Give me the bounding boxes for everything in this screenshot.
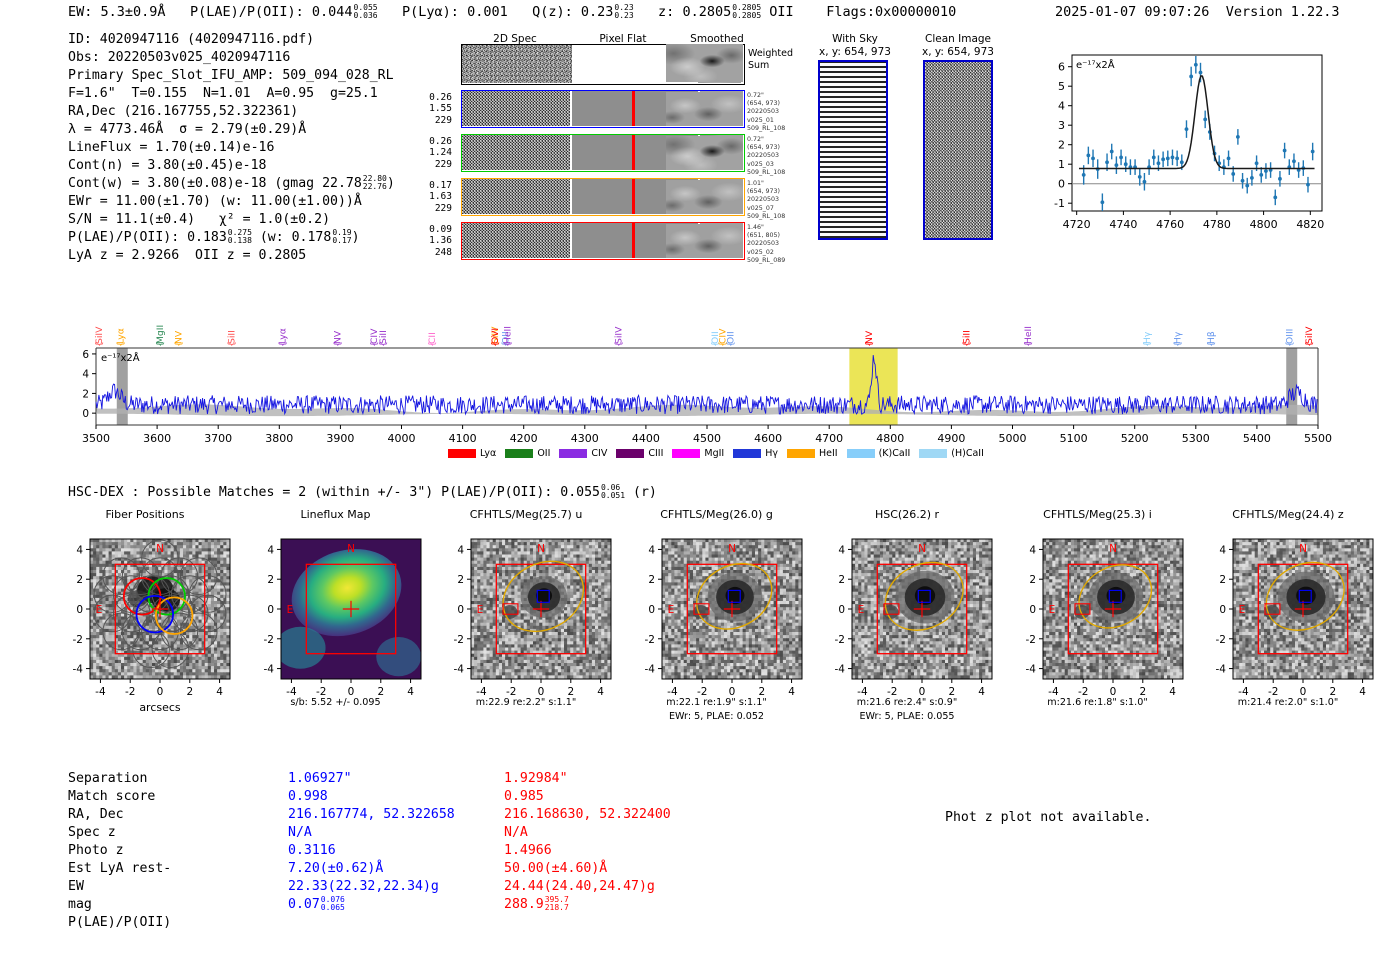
svg-text:0: 0 bbox=[82, 408, 89, 420]
z-value: 0.2805 bbox=[682, 4, 731, 20]
svg-text:{: { bbox=[615, 341, 625, 347]
compass-north: N bbox=[347, 543, 355, 555]
fiber-1-2dspec bbox=[462, 135, 570, 170]
svg-text:5300: 5300 bbox=[1182, 432, 1210, 445]
match-table-column-1: 1.06927"0.998216.167774, 52.322658N/A0.3… bbox=[288, 770, 455, 914]
match-label-1: Match score bbox=[68, 788, 171, 806]
match-label-6: mag bbox=[68, 896, 171, 914]
svg-text:{: { bbox=[1285, 341, 1295, 347]
plae-detail-line: P(LAE)/P(OII): 0.1830.2750.138 (w: 0.178… bbox=[68, 229, 395, 247]
fiber-row-nums-1: 0.261.24229 bbox=[422, 136, 452, 170]
legend-swatch bbox=[787, 449, 815, 458]
compass-east: E bbox=[1239, 604, 1246, 616]
svg-text:4700: 4700 bbox=[815, 432, 843, 445]
plae-detail-wrange: 0.190.17 bbox=[332, 229, 351, 245]
svg-text:{: { bbox=[228, 341, 238, 347]
svg-text:5000: 5000 bbox=[999, 432, 1027, 445]
svg-text:6: 6 bbox=[82, 349, 89, 361]
cutout-title-6: CFHTLS/Meg(24.4) z bbox=[1203, 508, 1373, 521]
cutout-caption2-4: EWr: 5, PLAE: 0.055 bbox=[812, 711, 1002, 723]
svg-text:{: { bbox=[726, 341, 736, 347]
full-spectrum-plot: 0246350036003700380039004000410042004300… bbox=[60, 280, 1345, 455]
legend-item-HCaII: (H)CaII bbox=[919, 448, 984, 459]
match-value-c1-3: N/A bbox=[288, 824, 455, 842]
svg-text:2: 2 bbox=[1058, 139, 1065, 152]
legend-item-KCaII: (K)CaII bbox=[847, 448, 911, 459]
match-value-c2-4: 1.4966 bbox=[504, 842, 671, 860]
plae-label: P(LAE)/P(OII): bbox=[190, 4, 304, 20]
svg-text:5: 5 bbox=[1058, 80, 1065, 93]
svg-text:4800: 4800 bbox=[876, 432, 904, 445]
legend-label: MgII bbox=[704, 448, 724, 459]
svg-text:{: { bbox=[963, 341, 973, 347]
match-table-labels: SeparationMatch scoreRA, DecSpec zPhoto … bbox=[68, 770, 171, 932]
svg-text:6: 6 bbox=[1058, 61, 1065, 74]
fiber-2-2dspec bbox=[462, 179, 570, 214]
legend-label: CIV bbox=[591, 448, 607, 459]
obs-line: Obs: 20220503v025_4020947116 bbox=[68, 49, 395, 67]
svg-text:{: { bbox=[95, 341, 105, 347]
svg-text:4720: 4720 bbox=[1063, 218, 1091, 231]
svg-text:2: 2 bbox=[457, 574, 464, 586]
pixelflat-center-line-1 bbox=[632, 135, 635, 170]
svg-text:4300: 4300 bbox=[571, 432, 599, 445]
ewr-line: EWr = 11.00(±1.70) (w: 11.00(±1.00))Å bbox=[68, 193, 395, 211]
svg-text:4: 4 bbox=[216, 686, 223, 698]
svg-text:e⁻¹⁷x2Å: e⁻¹⁷x2Å bbox=[101, 351, 140, 364]
match-value-c1-7: 0.070.0760.065 bbox=[288, 896, 455, 914]
legend-label: OII bbox=[537, 448, 550, 459]
legend-swatch bbox=[672, 449, 700, 458]
compass-east: E bbox=[96, 604, 103, 616]
cutout-title-1: Lineflux Map bbox=[251, 508, 421, 521]
qz-label: Q(z): bbox=[532, 4, 573, 20]
svg-text:4600: 4600 bbox=[754, 432, 782, 445]
gmag-range: 22.8022.76 bbox=[363, 175, 387, 191]
plya-value: 0.001 bbox=[467, 4, 508, 20]
legend-label: Hγ bbox=[765, 448, 778, 459]
legend-item-HeII: HeII bbox=[787, 448, 838, 459]
svg-text:2: 2 bbox=[267, 574, 274, 586]
svg-text:{: { bbox=[1143, 341, 1153, 347]
match-value-c2-7: 288.9395.7218.7 bbox=[504, 896, 671, 914]
svg-text:{: { bbox=[865, 341, 875, 347]
plae-value: 0.044 bbox=[312, 4, 353, 20]
svg-text:-2: -2 bbox=[263, 634, 273, 646]
svg-text:4: 4 bbox=[82, 369, 89, 381]
svg-text:-2: -2 bbox=[454, 634, 464, 646]
fiber-0-2dspec bbox=[462, 91, 570, 126]
ew-label: EW: bbox=[68, 4, 92, 20]
radec-line: RA,Dec (216.167755,52.322361) bbox=[68, 103, 395, 121]
svg-text:-4: -4 bbox=[73, 664, 84, 676]
svg-text:3600: 3600 bbox=[143, 432, 171, 445]
legend-swatch bbox=[847, 449, 875, 458]
svg-text:4: 4 bbox=[1058, 100, 1065, 113]
svg-text:{: { bbox=[491, 341, 501, 347]
match-table-column-2: 1.92984"0.985216.168630, 52.322400N/A1.4… bbox=[504, 770, 671, 914]
summary-header: EW: 5.3±0.9Å P(LAE)/P(OII): 0.0440.0550.… bbox=[68, 4, 956, 20]
compass-north: N bbox=[918, 543, 926, 555]
source-id-block: ID: 4020947116 (4020947116.pdf) Obs: 202… bbox=[68, 31, 395, 265]
svg-text:4400: 4400 bbox=[632, 432, 660, 445]
svg-text:4: 4 bbox=[76, 544, 83, 556]
svg-text:0: 0 bbox=[1058, 178, 1065, 191]
flags-value: Flags:0x00000010 bbox=[826, 4, 956, 20]
match-value-c1-0: 1.06927" bbox=[288, 770, 455, 788]
compass-north: N bbox=[1109, 543, 1117, 555]
compass-north: N bbox=[156, 543, 164, 555]
weighted-sum-2dspec-image bbox=[462, 45, 572, 83]
legend-swatch bbox=[559, 449, 587, 458]
svg-text:-2: -2 bbox=[125, 686, 135, 698]
slot-line: Primary Spec_Slot_IFU_AMP: 509_094_028_R… bbox=[68, 67, 395, 85]
svg-text:2: 2 bbox=[82, 388, 89, 400]
version-stamp: 2025-01-07 09:07:26 Version 1.22.3 bbox=[1055, 4, 1340, 20]
cutout-caption-4: m:21.6 re:2.4" s:0.9" bbox=[812, 697, 1002, 709]
svg-text:3700: 3700 bbox=[204, 432, 232, 445]
clean-image-coords: x, y: 654, 973 bbox=[908, 46, 1008, 59]
cutout-title-2: CFHTLS/Meg(25.7) u bbox=[441, 508, 611, 521]
svg-text:5500: 5500 bbox=[1304, 432, 1332, 445]
fiber-row-nums-3: 0.091.36248 bbox=[422, 224, 452, 258]
qz-value: 0.23 bbox=[581, 4, 614, 20]
match-plae-range: 0.0760.065 bbox=[321, 896, 345, 912]
cutout-title-5: CFHTLS/Meg(25.3) i bbox=[1013, 508, 1183, 521]
cutout-title-4: HSC(26.2) r bbox=[822, 508, 992, 521]
line-profile-plot: 472047404760478048004820-10123456e⁻¹⁷x2Å bbox=[1030, 45, 1330, 245]
with-sky-image bbox=[818, 60, 888, 240]
match-label-4: Photo z bbox=[68, 842, 171, 860]
svg-text:4900: 4900 bbox=[937, 432, 965, 445]
spectrum-legend: LyαOIICIVCIIIMgIIHγHeII(K)CaII(H)CaII bbox=[448, 448, 984, 459]
cutout-caption-2: m:22.9 re:2.2" s:1.1" bbox=[431, 697, 621, 709]
match-value-c1-5: 7.20(±0.62)Å bbox=[288, 860, 455, 878]
lineflux-line: LineFlux = 1.70(±0.14)e-16 bbox=[68, 139, 395, 157]
svg-text:2: 2 bbox=[186, 686, 193, 698]
legend-item-Hγ: Hγ bbox=[733, 448, 778, 459]
cutout-panel-4[interactable]: NE-4-4-2-2002244 bbox=[822, 535, 997, 720]
z-range: 0.28050.2805 bbox=[732, 4, 761, 20]
pixelflat-center-line-3 bbox=[632, 223, 635, 258]
fiber-row-nums-2: 0.171.63229 bbox=[422, 180, 452, 214]
svg-text:4760: 4760 bbox=[1156, 218, 1184, 231]
match-value-c2-5: 50.00(±4.60)Å bbox=[504, 860, 671, 878]
svg-text:2: 2 bbox=[76, 574, 83, 586]
fiber-row-meta-2: 1.01"(654, 973)20220503v025_07509_RL_108 bbox=[747, 180, 785, 221]
svg-text:5200: 5200 bbox=[1121, 432, 1149, 445]
svg-text:{: { bbox=[117, 341, 127, 347]
svg-text:{: { bbox=[333, 341, 343, 347]
svg-text:e⁻¹⁷x2Å: e⁻¹⁷x2Å bbox=[1076, 58, 1115, 71]
legend-item-OII: OII bbox=[505, 448, 550, 459]
svg-text:1: 1 bbox=[1058, 158, 1065, 171]
cutout-panel-0[interactable]: NE-4-4-2-2002244arcsecs bbox=[60, 535, 235, 720]
z-species: OII bbox=[769, 4, 793, 20]
legend-swatch bbox=[448, 449, 476, 458]
redshift-line: LyA z = 2.9266 OII z = 0.2805 bbox=[68, 247, 395, 265]
svg-text:4800: 4800 bbox=[1250, 218, 1278, 231]
with-sky-title: With Sky x, y: 654, 973 bbox=[810, 33, 900, 59]
svg-text:-4: -4 bbox=[95, 686, 106, 698]
svg-text:{: { bbox=[428, 341, 438, 347]
svg-text:4820: 4820 bbox=[1296, 218, 1324, 231]
svg-text:4100: 4100 bbox=[449, 432, 477, 445]
svg-text:4200: 4200 bbox=[510, 432, 538, 445]
legend-item-CIV: CIV bbox=[559, 448, 607, 459]
match-value-c2-3: N/A bbox=[504, 824, 671, 842]
compass-east: E bbox=[286, 604, 293, 616]
cutout-panel-2[interactable]: NE-4-4-2-2002244 bbox=[441, 535, 616, 720]
fiber-row-meta-1: 0.72"(654, 973)20220503v025_03509_RL_108 bbox=[747, 136, 785, 177]
svg-text:{: { bbox=[278, 341, 288, 347]
legend-swatch bbox=[919, 449, 947, 458]
plae-range: 0.0550.036 bbox=[354, 4, 378, 20]
match-plae-range: 395.7218.7 bbox=[545, 896, 569, 912]
svg-text:{: { bbox=[1024, 341, 1034, 347]
cutout-caption-5: m:21.6 re:1.8" s:1.0" bbox=[1003, 697, 1193, 709]
plya-label: P(Lyα): bbox=[402, 4, 459, 20]
svg-text:0: 0 bbox=[457, 604, 464, 616]
svg-text:{: { bbox=[175, 341, 185, 347]
match-label-0: Separation bbox=[68, 770, 171, 788]
svg-text:3800: 3800 bbox=[265, 432, 293, 445]
fiber-row-meta-3: 1.46"(651, 805)20220503v025_02509_RL_089 bbox=[747, 224, 785, 265]
svg-text:4000: 4000 bbox=[388, 432, 416, 445]
legend-item-CIII: CIII bbox=[616, 448, 663, 459]
svg-text:{: { bbox=[1207, 341, 1217, 347]
svg-text:{: { bbox=[156, 341, 166, 347]
plae-detail-range: 0.2750.138 bbox=[228, 229, 252, 245]
compass-east: E bbox=[477, 604, 484, 616]
legend-item-Lyα: Lyα bbox=[448, 448, 496, 459]
match-value-c2-0: 1.92984" bbox=[504, 770, 671, 788]
legend-swatch bbox=[733, 449, 761, 458]
legend-label: Lyα bbox=[480, 448, 496, 459]
svg-text:{: { bbox=[1305, 341, 1315, 347]
cont-n-line: Cont(n) = 3.80(±0.45)e-18 bbox=[68, 157, 395, 175]
compass-north: N bbox=[537, 543, 545, 555]
qz-range: 0.230.23 bbox=[614, 4, 633, 20]
compass-east: E bbox=[667, 604, 674, 616]
cutout-panel-1[interactable]: NE-4-4-2-2002244 bbox=[251, 535, 426, 720]
legend-item-MgII: MgII bbox=[672, 448, 724, 459]
cutout-caption-6: m:21.4 re:2.0" s:1.0" bbox=[1193, 697, 1383, 709]
match-label-5: Est LyA rest-EW bbox=[68, 860, 171, 896]
snr-line: S/N = 11.1(±0.4) χ² = 1.0(±0.2) bbox=[68, 211, 395, 229]
photoz-note: Phot z plot not available. bbox=[945, 810, 1151, 825]
cutout-xlabel: arcsecs bbox=[139, 701, 181, 714]
legend-swatch bbox=[505, 449, 533, 458]
svg-text:3900: 3900 bbox=[326, 432, 354, 445]
svg-text:4780: 4780 bbox=[1203, 218, 1231, 231]
clean-image bbox=[923, 60, 993, 240]
svg-text:{: { bbox=[503, 341, 513, 347]
timestamp: 2025-01-07 09:07:26 bbox=[1055, 4, 1209, 20]
svg-text:4500: 4500 bbox=[693, 432, 721, 445]
legend-swatch bbox=[616, 449, 644, 458]
svg-text:-1: -1 bbox=[1054, 197, 1065, 210]
match-value-c2-2: 216.168630, 52.322400 bbox=[504, 806, 671, 824]
svg-text:0: 0 bbox=[267, 604, 274, 616]
cutout-caption-3: m:22.1 re:1.9" s:1.1" bbox=[622, 697, 812, 709]
id-line: ID: 4020947116 (4020947116.pdf) bbox=[68, 31, 395, 49]
lambda-line: λ = 4773.46Å σ = 2.79(±0.29)Å bbox=[68, 121, 395, 139]
cutout-panel-6[interactable]: NE-4-4-2-2002244 bbox=[1203, 535, 1378, 720]
fiber-3-2dspec bbox=[462, 223, 570, 258]
ew-value: 5.3±0.9Å bbox=[101, 4, 166, 20]
legend-label: (K)CaII bbox=[879, 448, 911, 459]
cutout-panel-3[interactable]: NE-4-4-2-2002244 bbox=[632, 535, 807, 720]
svg-text:-4: -4 bbox=[454, 664, 465, 676]
compass-north: N bbox=[728, 543, 736, 555]
svg-text:MgII: MgII bbox=[155, 325, 166, 344]
with-sky-coords: x, y: 654, 973 bbox=[810, 46, 900, 59]
cutout-panel-5[interactable]: NE-4-4-2-2002244 bbox=[1013, 535, 1188, 720]
cutout-caption-1: s/b: 5.52 +/- 0.095 bbox=[241, 697, 431, 709]
seeing-line: F=1.6" T=0.155 N=1.01 A=0.95 g=25.1 bbox=[68, 85, 395, 103]
legend-label: HeII bbox=[819, 448, 838, 459]
cutout-title-0: Fiber Positions bbox=[60, 508, 230, 521]
match-label-2: RA, Dec bbox=[68, 806, 171, 824]
svg-text:-4: -4 bbox=[263, 664, 274, 676]
compass-east: E bbox=[1048, 604, 1055, 616]
svg-text:5400: 5400 bbox=[1243, 432, 1271, 445]
match-label-7: P(LAE)/P(OII) bbox=[68, 914, 171, 932]
svg-text:-2: -2 bbox=[73, 634, 83, 646]
match-label-3: Spec z bbox=[68, 824, 171, 842]
fiber-row-nums-0: 0.261.55229 bbox=[422, 92, 452, 126]
fiber-row-meta-0: 0.72"(654, 973)20220503v025_01509_RL_108 bbox=[747, 92, 785, 133]
svg-text:4740: 4740 bbox=[1109, 218, 1137, 231]
clean-image-title: Clean Image x, y: 654, 973 bbox=[908, 33, 1008, 59]
legend-label: (H)CaII bbox=[951, 448, 984, 459]
match-value-c2-6: 24.44(24.40,24.47)g bbox=[504, 878, 671, 896]
legend-label: CIII bbox=[648, 448, 663, 459]
match-value-c1-4: 0.3116 bbox=[288, 842, 455, 860]
compass-east: E bbox=[858, 604, 865, 616]
match-value-c1-2: 216.167774, 52.322658 bbox=[288, 806, 455, 824]
weighted-sum-label: Weighted Sum bbox=[748, 48, 793, 72]
cont-w-line: Cont(w) = 3.80(±0.08)e-18 (gmag 22.7822.… bbox=[68, 175, 395, 193]
svg-text:{: { bbox=[379, 341, 389, 347]
hsc-match-line: HSC-DEX : Possible Matches = 2 (within +… bbox=[68, 484, 657, 500]
z-label: z: bbox=[658, 4, 674, 20]
svg-text:0: 0 bbox=[76, 604, 83, 616]
match-value-c1-1: 0.998 bbox=[288, 788, 455, 806]
hsc-plae-range: 0.060.051 bbox=[601, 484, 625, 500]
cutout-title-3: CFHTLS/Meg(26.0) g bbox=[632, 508, 802, 521]
pixelflat-center-line-0 bbox=[632, 91, 635, 126]
svg-text:3500: 3500 bbox=[82, 432, 110, 445]
pixelflat-center-line-2 bbox=[632, 179, 635, 214]
svg-text:5100: 5100 bbox=[1060, 432, 1088, 445]
version: Version 1.22.3 bbox=[1226, 4, 1340, 20]
cutout-caption2-3: EWr: 5, PLAE: 0.052 bbox=[622, 711, 812, 723]
match-value-c1-6: 22.33(22.32,22.34)g bbox=[288, 878, 455, 896]
svg-text:3: 3 bbox=[1058, 119, 1065, 132]
compass-north: N bbox=[1299, 543, 1307, 555]
svg-text:4: 4 bbox=[267, 544, 274, 556]
svg-text:{: { bbox=[1174, 341, 1184, 347]
svg-text:4: 4 bbox=[457, 544, 464, 556]
match-value-c2-1: 0.985 bbox=[504, 788, 671, 806]
svg-text:0: 0 bbox=[157, 686, 164, 698]
weighted-sum-smoothed-wide bbox=[666, 44, 743, 82]
